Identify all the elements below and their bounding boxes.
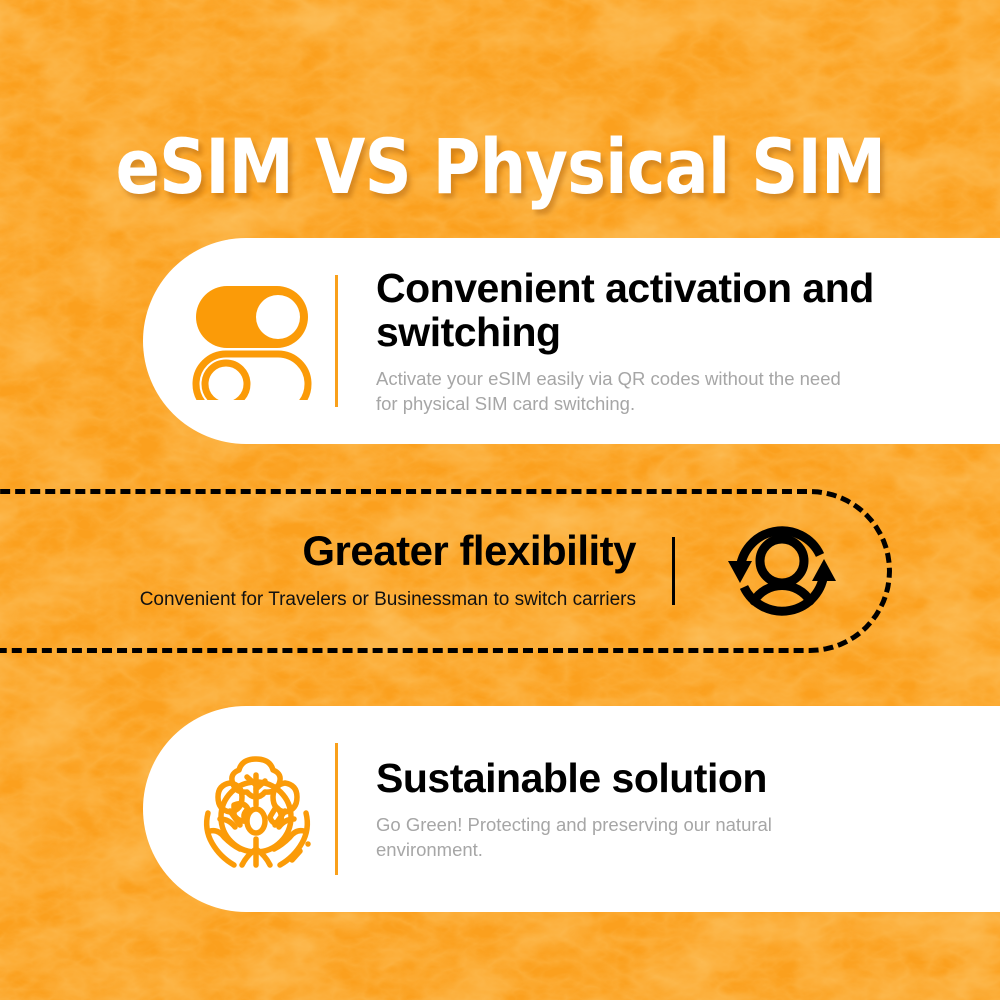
feature-band-greater-flexibility[interactable]: Greater flexibility Convenient for Trave… — [0, 489, 892, 653]
card-description: Activate your eSIM easily via QR codes w… — [376, 366, 846, 416]
card-divider — [335, 743, 338, 875]
card-title: Sustainable solution — [376, 756, 960, 800]
feature-card-convenient-activation[interactable]: Convenient activation and switching Acti… — [143, 238, 1000, 444]
band-description: Convenient for Travelers or Businessman … — [0, 588, 636, 613]
infographic-canvas: eSIM VS Physical SIM Convenient activati… — [0, 0, 1000, 1000]
feature-card-sustainable-solution[interactable]: Sustainable solution Go Green! Protectin… — [143, 706, 1000, 912]
card-text-block: Sustainable solution Go Green! Protectin… — [376, 756, 1000, 863]
user-switch-cycle-icon — [707, 505, 857, 637]
toggle-switches-icon — [181, 282, 331, 400]
card-description: Go Green! Protecting and preserving our … — [376, 812, 846, 862]
card-divider — [335, 275, 338, 407]
band-text-block: Greater flexibility Convenient for Trave… — [0, 530, 636, 613]
band-title: Greater flexibility — [0, 530, 636, 572]
page-title: eSIM VS Physical SIM — [115, 129, 885, 205]
page-title-wrap: eSIM VS Physical SIM — [0, 78, 1000, 256]
card-text-block: Convenient activation and switching Acti… — [376, 266, 1000, 417]
hands-earth-trees-icon — [181, 745, 331, 873]
card-title: Convenient activation and switching — [376, 266, 960, 355]
band-divider — [672, 537, 675, 605]
